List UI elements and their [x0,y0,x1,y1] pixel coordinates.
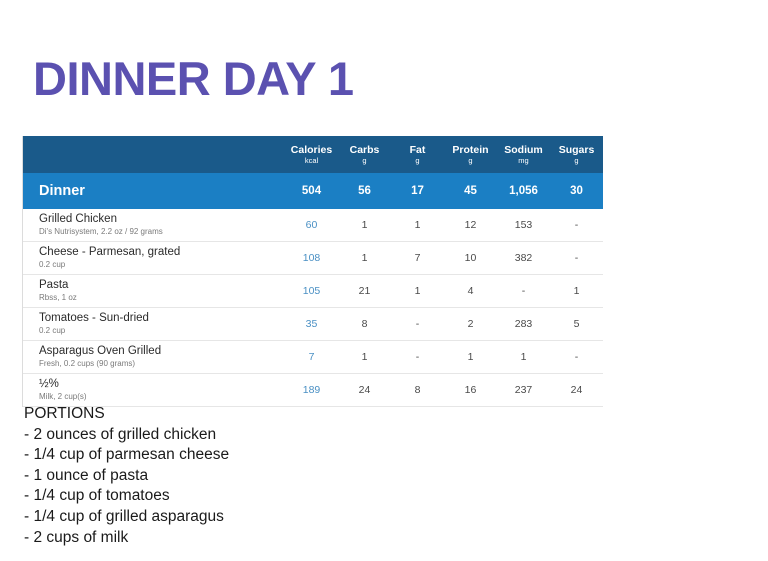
item-calories: 60 [285,209,338,242]
item-sugars: - [550,242,603,275]
item-title: Pasta [39,278,285,292]
item-sugars: - [550,209,603,242]
column-header-fat-label: Fat [410,144,426,156]
summary-protein: 45 [444,173,497,209]
item-carbs: 1 [338,341,391,374]
item-sodium: - [497,275,550,308]
summary-sodium: 1,056 [497,173,550,209]
item-name-cell: Asparagus Oven Grilled Fresh, 0.2 cups (… [23,341,285,374]
table-header-row: Calories kcal Carbs g Fat g [23,136,603,173]
portion-item: - 2 cups of milk [24,528,229,549]
column-header-carbs: Carbs g [338,136,391,173]
item-name-cell: Tomatoes - Sun-dried 0.2 cup [23,308,285,341]
table-row: Pasta Rbss, 1 oz 105 21 1 4 - 1 [23,275,603,308]
column-header-calories: Calories kcal [285,136,338,173]
item-title: Cheese - Parmesan, grated [39,245,285,259]
item-name-cell: ½% Milk, 2 cup(s) [23,374,285,407]
slide-canvas: DINNER DAY 1 Calories kcal [0,0,768,561]
item-title: Grilled Chicken [39,212,285,226]
item-sodium: 382 [497,242,550,275]
item-protein: 10 [444,242,497,275]
item-sugars: 1 [550,275,603,308]
item-fat: - [391,341,444,374]
column-header-carbs-label: Carbs [350,144,380,156]
item-fat: - [391,308,444,341]
portions-heading: PORTIONS [24,404,229,425]
portion-item: - 1 ounce of pasta [24,466,229,487]
item-protein: 4 [444,275,497,308]
item-name-cell: Pasta Rbss, 1 oz [23,275,285,308]
table-row: ½% Milk, 2 cup(s) 189 24 8 16 237 24 [23,374,603,407]
item-sodium: 153 [497,209,550,242]
nutrition-table: Calories kcal Carbs g Fat g [22,136,602,407]
summary-carbs: 56 [338,173,391,209]
item-sodium: 237 [497,374,550,407]
portions-block: PORTIONS - 2 ounces of grilled chicken -… [24,404,229,548]
item-fat: 7 [391,242,444,275]
item-fat: 8 [391,374,444,407]
item-detail: Rbss, 1 oz [39,293,285,303]
item-title: Tomatoes - Sun-dried [39,311,285,325]
item-protein: 2 [444,308,497,341]
item-detail: Di's Nutrisystem, 2.2 oz / 92 grams [39,227,285,237]
column-header-protein-label: Protein [452,144,488,156]
item-protein: 16 [444,374,497,407]
summary-sugars: 30 [550,173,603,209]
item-title: ½% [39,377,285,391]
column-header-sodium: Sodium mg [497,136,550,173]
item-calories: 105 [285,275,338,308]
item-name-cell: Cheese - Parmesan, grated 0.2 cup [23,242,285,275]
portion-item: - 2 ounces of grilled chicken [24,425,229,446]
item-detail: Milk, 2 cup(s) [39,392,285,402]
item-detail: Fresh, 0.2 cups (90 grams) [39,359,285,369]
summary-calories: 504 [285,173,338,209]
item-fat: 1 [391,209,444,242]
column-header-calories-label: Calories [291,144,332,156]
column-header-sodium-label: Sodium [504,144,543,156]
item-name-cell: Grilled Chicken Di's Nutrisystem, 2.2 oz… [23,209,285,242]
column-header-name [23,136,285,173]
item-calories: 189 [285,374,338,407]
nutrition-table-grid: Calories kcal Carbs g Fat g [23,136,603,407]
item-title: Asparagus Oven Grilled [39,344,285,358]
item-protein: 12 [444,209,497,242]
item-calories: 7 [285,341,338,374]
page-title: DINNER DAY 1 [33,55,354,102]
item-carbs: 1 [338,209,391,242]
portion-item: - 1/4 cup of grilled asparagus [24,507,229,528]
column-header-fat: Fat g [391,136,444,173]
item-sodium: 283 [497,308,550,341]
column-header-sugars-label: Sugars [559,144,595,156]
table-row: Grilled Chicken Di's Nutrisystem, 2.2 oz… [23,209,603,242]
item-calories: 35 [285,308,338,341]
item-sugars: - [550,341,603,374]
column-header-protein-unit: g [468,157,472,166]
item-fat: 1 [391,275,444,308]
item-sodium: 1 [497,341,550,374]
table-header: Calories kcal Carbs g Fat g [23,136,603,173]
table-row: Cheese - Parmesan, grated 0.2 cup 108 1 … [23,242,603,275]
portion-item: - 1/4 cup of tomatoes [24,486,229,507]
table-row: Tomatoes - Sun-dried 0.2 cup 35 8 - 2 28… [23,308,603,341]
column-header-fat-unit: g [415,157,419,166]
summary-label: Dinner [23,173,285,209]
column-header-carbs-unit: g [362,157,366,166]
item-carbs: 21 [338,275,391,308]
column-header-sodium-unit: mg [518,157,528,166]
item-calories: 108 [285,242,338,275]
item-detail: 0.2 cup [39,260,285,270]
item-sugars: 24 [550,374,603,407]
portion-item: - 1/4 cup of parmesan cheese [24,445,229,466]
table-body: Dinner 504 56 17 45 1,056 30 Grilled Chi… [23,173,603,407]
item-carbs: 1 [338,242,391,275]
column-header-sugars-unit: g [574,157,578,166]
item-carbs: 24 [338,374,391,407]
summary-fat: 17 [391,173,444,209]
column-header-protein: Protein g [444,136,497,173]
column-header-sugars: Sugars g [550,136,603,173]
item-protein: 1 [444,341,497,374]
summary-row-dinner: Dinner 504 56 17 45 1,056 30 [23,173,603,209]
item-detail: 0.2 cup [39,326,285,336]
column-header-calories-unit: kcal [305,157,318,166]
item-sugars: 5 [550,308,603,341]
item-carbs: 8 [338,308,391,341]
table-row: Asparagus Oven Grilled Fresh, 0.2 cups (… [23,341,603,374]
